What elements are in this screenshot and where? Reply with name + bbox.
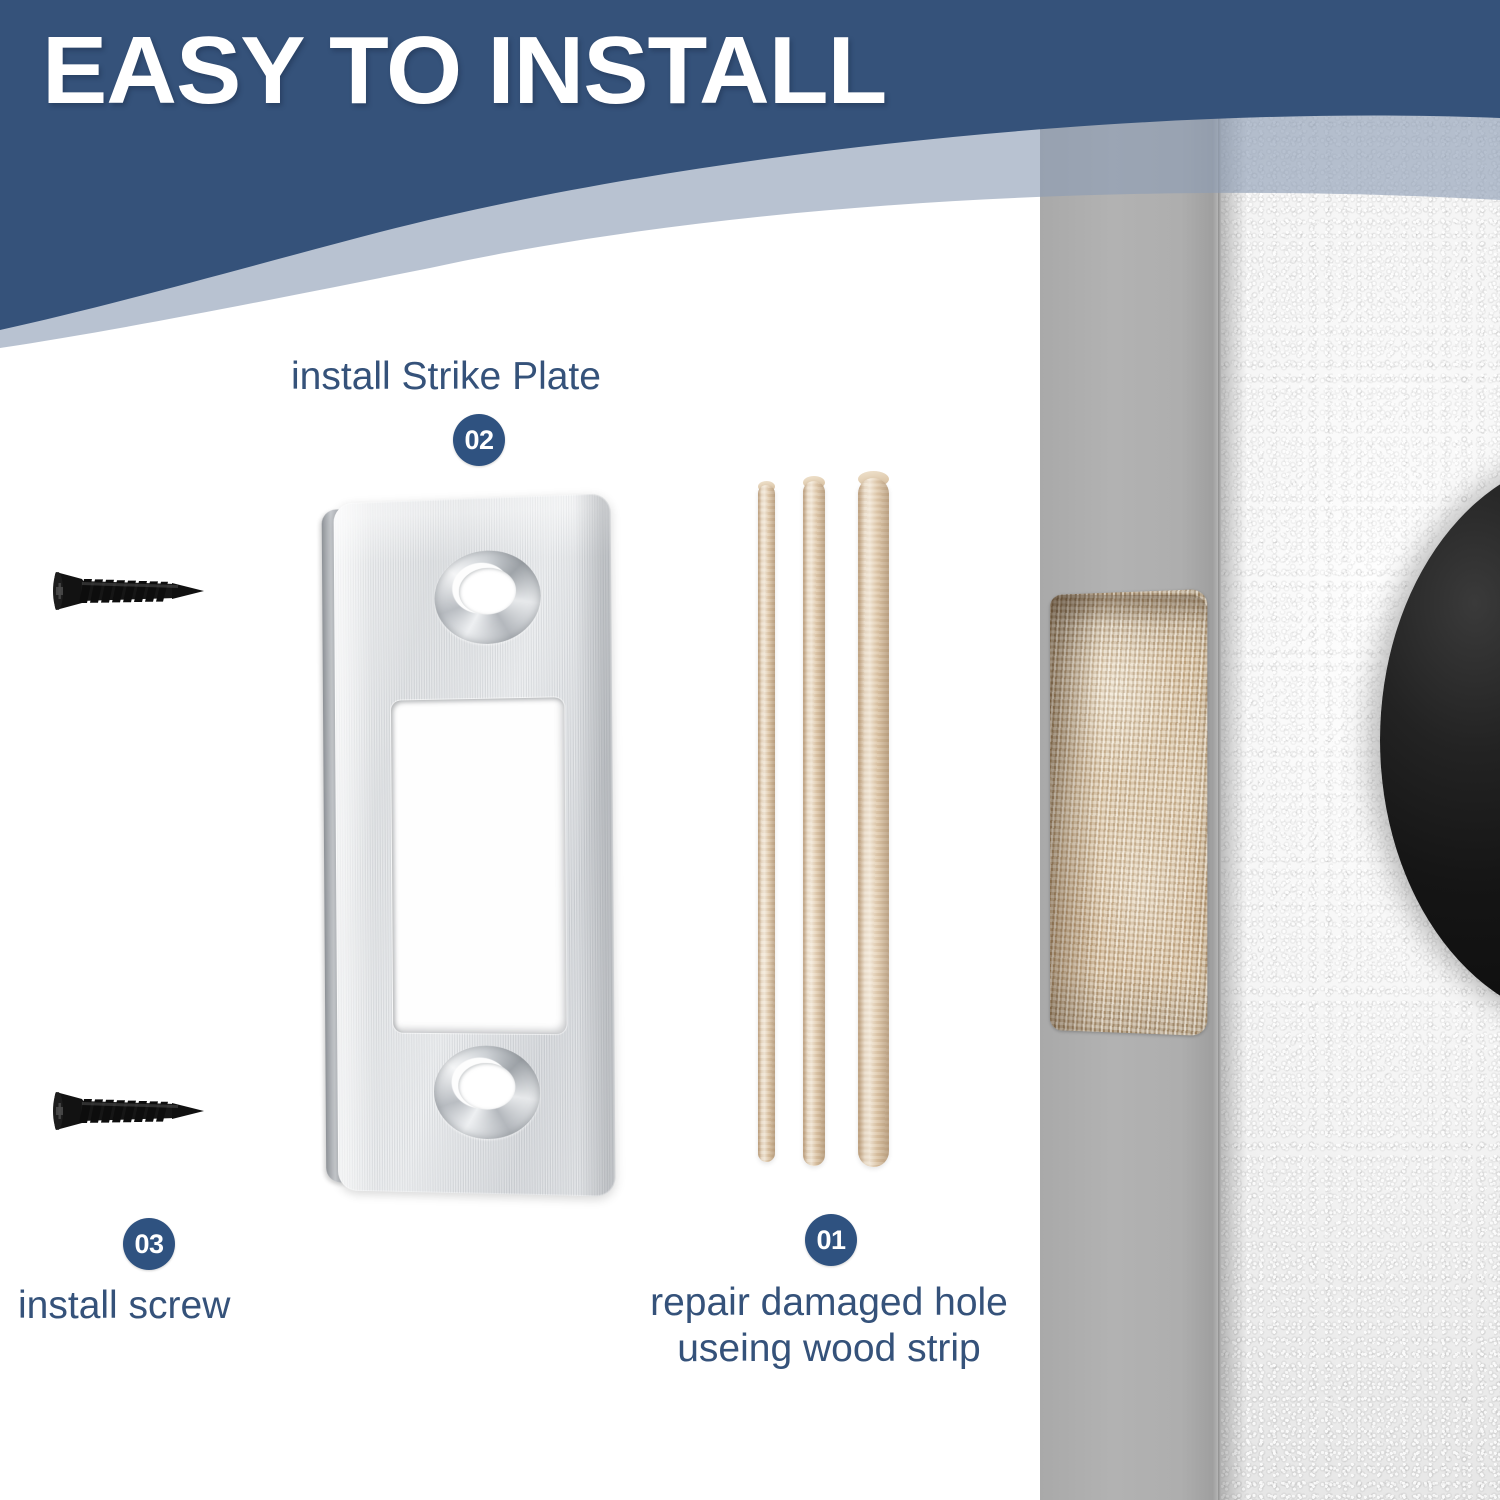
- wood-dowel-2: [803, 481, 825, 1166]
- step-02-badge: 02: [453, 414, 505, 466]
- page-title: EASY TO INSTALL: [42, 16, 886, 126]
- step-01-label-line-2: useing wood strip: [610, 1326, 1048, 1372]
- screw-top: [52, 562, 214, 620]
- wood-dowel-3: [858, 478, 889, 1167]
- strike-plate-latch-cutout: [391, 697, 567, 1034]
- step-01-badge: 01: [805, 1214, 857, 1266]
- damaged-mortise-pocket: [1050, 589, 1207, 1036]
- screw-bottom: [52, 1082, 214, 1140]
- strike-plate-sheen: [334, 493, 611, 503]
- step-01-label-line-1: repair damaged hole: [610, 1280, 1048, 1326]
- step-01-label: repair damaged hole useing wood strip: [610, 1280, 1048, 1371]
- step-02-label: install Strike Plate: [291, 354, 601, 400]
- product-infographic-poster: EASY TO INSTALL install Strike Plate 02: [0, 0, 1500, 1500]
- strike-plate: [320, 487, 622, 1205]
- wood-dowel-1: [758, 485, 775, 1162]
- step-03-badge: 03: [123, 1218, 175, 1270]
- step-03-label: install screw: [18, 1283, 230, 1329]
